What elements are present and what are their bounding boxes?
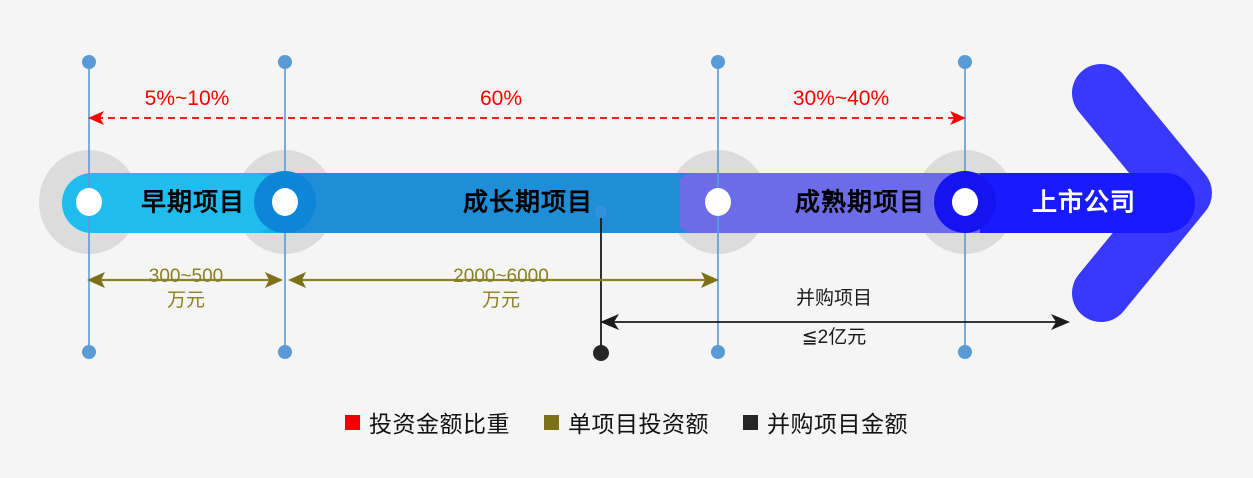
amount-label-early: 300~500 万元 — [149, 267, 224, 310]
legend-label-ma-amount: 并购项目金额 — [767, 405, 908, 439]
stage-node-dot — [76, 188, 102, 216]
legend-item-ma-amount[interactable]: 并购项目金额 — [743, 405, 908, 439]
ma-connector-bottom-dot — [593, 345, 609, 361]
stage-node-dot — [272, 188, 298, 216]
amount-label-growth-line1: 2000~6000 — [453, 266, 549, 287]
ma-label-title: 并购项目 — [796, 289, 872, 308]
legend-item-investment-ratio[interactable]: 投资金额比重 — [345, 405, 510, 439]
amount-label-growth: 2000~6000 万元 — [453, 267, 549, 310]
stage-label-mature: 成熟期项目 — [795, 191, 925, 216]
amount-label-growth-line2: 万元 — [453, 291, 549, 310]
legend-label-single-project-amount: 单项目投资额 — [568, 405, 709, 439]
amount-label-early-line2: 万元 — [149, 291, 224, 310]
guide-dot — [958, 345, 972, 359]
percent-label-mature: 30%~40% — [793, 88, 889, 109]
guide-dot — [278, 55, 292, 69]
amount-label-early-line1: 300~500 — [149, 266, 224, 287]
stage-node-dot — [705, 188, 731, 216]
diagram-canvas: 5%~10% 60% 30%~40% 早期项目 成长期项目 成熟期项目 上市公司… — [0, 0, 1253, 478]
stage-label-listed: 上市公司 — [1032, 191, 1136, 216]
legend-item-single-project-amount[interactable]: 单项目投资额 — [544, 405, 709, 439]
legend-swatch-icon — [345, 415, 360, 430]
percent-label-growth: 60% — [480, 88, 522, 109]
guide-dot — [958, 55, 972, 69]
legend-label-investment-ratio: 投资金额比重 — [369, 405, 510, 439]
legend-swatch-icon — [743, 415, 758, 430]
guide-dot — [711, 345, 725, 359]
stage-label-early: 早期项目 — [141, 191, 245, 216]
percent-arrow-line — [88, 111, 966, 125]
ma-connector-top-dot — [595, 206, 607, 218]
percent-label-early: 5%~10% — [145, 88, 230, 109]
guide-dot — [82, 345, 96, 359]
legend: 投资金额比重 单项目投资额 并购项目金额 — [0, 405, 1253, 439]
stage-node-dot — [952, 188, 978, 216]
ma-label-amount: ≦2亿元 — [802, 328, 867, 347]
guide-dot — [711, 55, 725, 69]
guide-dot — [278, 345, 292, 359]
guide-dot — [82, 55, 96, 69]
stage-label-growth: 成长期项目 — [463, 191, 593, 216]
legend-swatch-icon — [544, 415, 559, 430]
